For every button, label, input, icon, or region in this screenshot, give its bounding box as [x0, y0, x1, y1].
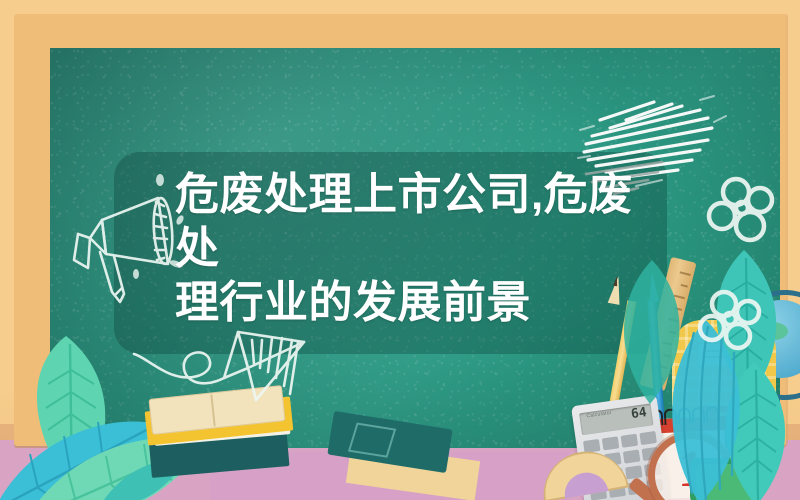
page-title: 危废处理上市公司,危废处 理行业的发展前景	[175, 168, 645, 330]
cover-banner: 危废处理上市公司,危废处 理行业的发展前景	[0, 0, 800, 500]
title-line-1: 危废处理上市公司,危废处	[175, 168, 645, 276]
megaphone-icon	[60, 168, 190, 308]
flower-doodle-top-icon	[698, 170, 780, 256]
flower-doodle-bottom-icon	[690, 284, 776, 364]
title-line-2: 理行业的发展前景	[175, 276, 645, 330]
